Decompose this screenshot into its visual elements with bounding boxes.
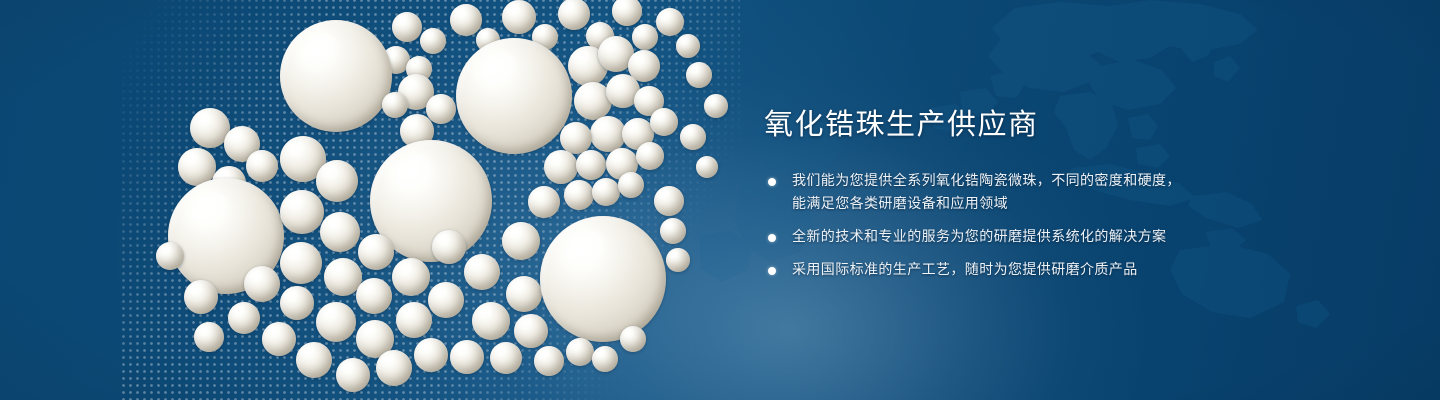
list-item-line: 采用国际标准的生产工艺，随时为您提供研磨介质产品 bbox=[792, 259, 1384, 282]
list-item: 全新的技术和专业的服务为您的研磨提供系统化的解决方案 bbox=[764, 226, 1384, 249]
list-item: 采用国际标准的生产工艺，随时为您提供研磨介质产品 bbox=[764, 259, 1384, 282]
list-item-line: 我们能为您提供全系列氧化锆陶瓷微珠，不同的密度和硬度， bbox=[792, 170, 1384, 193]
hero-banner: 氧化锆珠生产供应商 我们能为您提供全系列氧化锆陶瓷微珠，不同的密度和硬度， 能满… bbox=[0, 0, 1440, 400]
list-item-line: 全新的技术和专业的服务为您的研磨提供系统化的解决方案 bbox=[792, 226, 1384, 249]
feature-list: 我们能为您提供全系列氧化锆陶瓷微珠，不同的密度和硬度， 能满足您各类研磨设备和应… bbox=[764, 170, 1384, 282]
bullet-dot-icon bbox=[768, 234, 776, 242]
banner-copy: 氧化锆珠生产供应商 我们能为您提供全系列氧化锆陶瓷微珠，不同的密度和硬度， 能满… bbox=[764, 106, 1384, 282]
bead-cluster bbox=[120, 0, 740, 400]
list-item: 我们能为您提供全系列氧化锆陶瓷微珠，不同的密度和硬度， 能满足您各类研磨设备和应… bbox=[764, 170, 1384, 216]
bullet-dot-icon bbox=[768, 178, 776, 186]
list-item-line: 能满足您各类研磨设备和应用领域 bbox=[792, 193, 1384, 216]
page-title: 氧化锆珠生产供应商 bbox=[764, 106, 1384, 142]
product-image-zirconia-beads bbox=[120, 0, 740, 400]
bullet-dot-icon bbox=[768, 267, 776, 275]
